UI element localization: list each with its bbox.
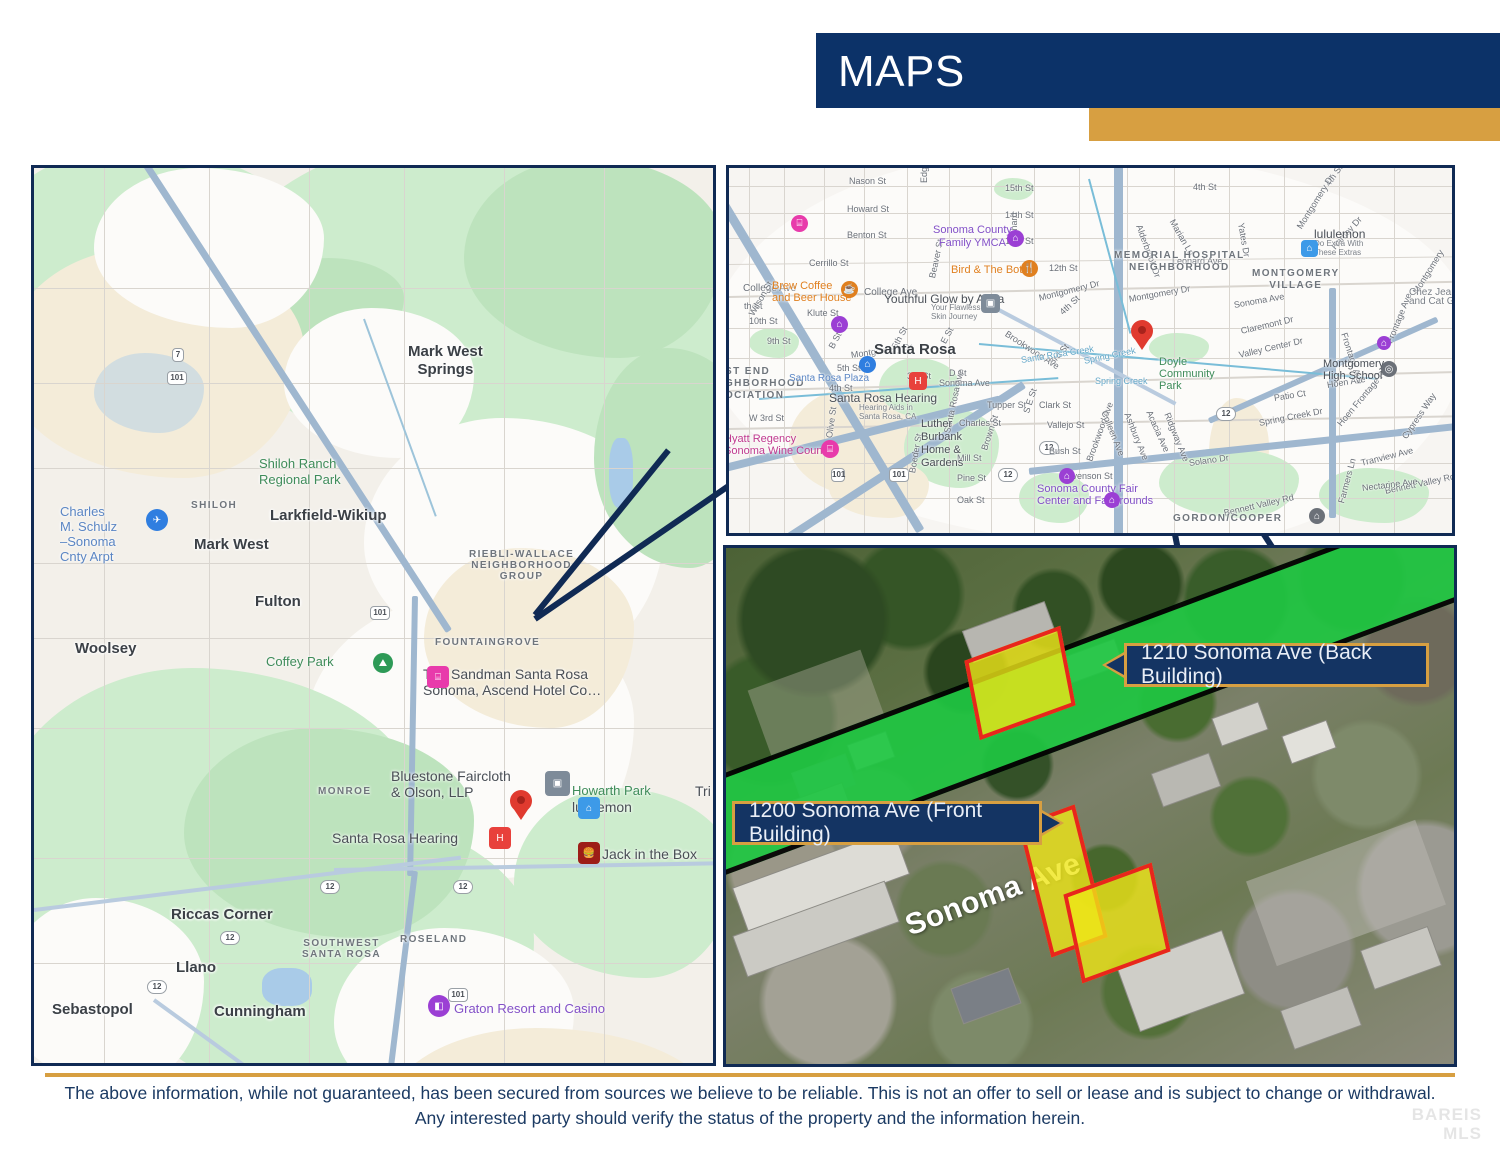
- map-label-city: Mark WestSprings: [408, 343, 483, 379]
- street-label: Vallejo St: [1047, 420, 1084, 430]
- street-label: Bush St: [1049, 446, 1081, 456]
- hospital-icon[interactable]: H: [489, 827, 511, 849]
- bareis-mls-watermark: BAREIS MLS: [1396, 1105, 1482, 1151]
- hotel-icon[interactable]: ⌸: [791, 215, 808, 232]
- map-label-park: Coffey Park: [266, 654, 334, 669]
- map-label-city: Woolsey: [75, 640, 136, 657]
- highway-shield: 7: [172, 348, 184, 362]
- poi-label-fairgrounds: Sonoma County FairCenter and Fairgrounds: [1037, 483, 1153, 507]
- poi-label-luther-burbank: LutherBurbankHome &Gardens: [921, 418, 963, 470]
- poi-label-lululemon-sub: Do Extra WithThese Extras: [1314, 239, 1363, 257]
- neighborhood-label: ST ENDGHBORHOODOCIATION: [726, 366, 805, 402]
- overview-map-panel[interactable]: 101 101 101 12 12 12 12 116 7 Mark WestS…: [31, 165, 716, 1066]
- footer-divider: [45, 1073, 1455, 1077]
- map-label-city: Cunningham: [214, 1003, 306, 1020]
- map-label-city: Fulton: [255, 593, 301, 610]
- street-label: Tupper St: [987, 400, 1026, 410]
- map-label-park: Howarth Park: [572, 783, 651, 798]
- street-label: Edgew: [919, 165, 929, 183]
- street-label: Cerrillo St: [809, 258, 849, 268]
- street-label: Howard St: [847, 204, 889, 214]
- road: [991, 168, 992, 533]
- road: [209, 168, 210, 1063]
- road: [104, 168, 105, 1063]
- overview-map-canvas[interactable]: 101 101 101 12 12 12 12 116 7 Mark WestS…: [34, 168, 713, 1063]
- map-label-city: Riccas Corner: [171, 906, 273, 923]
- street-label: 10th St: [749, 316, 778, 326]
- highway-shield-12: 12: [453, 880, 473, 894]
- road: [1229, 168, 1230, 533]
- road: [34, 728, 713, 729]
- street-label: 15th St: [1005, 183, 1034, 193]
- highway-shield-12: 12: [147, 980, 167, 994]
- water-body: [262, 968, 312, 1006]
- road: [34, 288, 713, 289]
- subject-property-pin[interactable]: [510, 790, 532, 820]
- school-icon[interactable]: ◎: [1381, 361, 1397, 377]
- street-label: 4th St: [1193, 182, 1217, 192]
- map-label-neighborhood: RIEBLI-WALLACENEIGHBORHOODGROUP: [469, 549, 574, 582]
- highway-shield-12: 12: [220, 931, 240, 945]
- shop-icon[interactable]: ⌂: [578, 797, 600, 819]
- map-label-business: Jack in the Box: [602, 846, 697, 862]
- poi-label-brew-coffee: Brew Coffeeand Beer House: [772, 280, 852, 304]
- creek-label: Spring Creek: [1095, 376, 1148, 386]
- restaurant-icon[interactable]: 🍔: [578, 842, 600, 864]
- highway-shield-101: 101: [889, 468, 909, 482]
- aerial-photo-panel[interactable]: Sonoma Ave 1210 Sonoma Ave (Back Buildin…: [723, 545, 1457, 1067]
- venue-icon[interactable]: ⌂: [1104, 492, 1120, 508]
- street-label: Pine St: [957, 473, 986, 483]
- poi-label-hyatt: Hyatt RegencySonoma Wine Country: [726, 433, 835, 457]
- disclaimer-line-2: Any interested party should verify the s…: [45, 1106, 1455, 1131]
- highway-shield-12: 12: [998, 468, 1018, 482]
- poi-label-ymca: Sonoma CountyFamily YMCA: [933, 224, 1012, 250]
- disclaimer-line-1: The above information, while not guarant…: [45, 1081, 1455, 1106]
- road: [34, 963, 713, 964]
- map-label-park: Tri: [695, 783, 711, 799]
- restaurant-icon[interactable]: 🍴: [1021, 260, 1038, 277]
- road: [824, 168, 825, 533]
- disclaimer-text: The above information, while not guarant…: [45, 1081, 1455, 1131]
- street-label: W 3rd St: [749, 413, 784, 423]
- highway-shield-12: 12: [320, 880, 340, 894]
- street-label: Sonoma Ave: [939, 378, 990, 388]
- poi-label-chez-jean: Chez Jeanand Cat Gro: [1409, 288, 1455, 306]
- park-icon[interactable]: ⌂: [1309, 508, 1325, 524]
- street-label: 5th St: [837, 363, 861, 373]
- street-label: Oak St: [957, 495, 985, 505]
- callout-1200-label: 1200 Sonoma Ave (Front Building): [749, 799, 1025, 847]
- map-label-city: Mark West: [194, 536, 269, 553]
- shop-icon[interactable]: ⌂: [1301, 240, 1318, 257]
- property-building-icon[interactable]: ▣: [981, 294, 1000, 313]
- property-building-icon[interactable]: ▣: [545, 771, 570, 796]
- map-label-business: Bluestone Faircloth& Olson, LLP: [391, 768, 511, 800]
- park-icon[interactable]: ⛰: [373, 653, 393, 673]
- poi-label-doyle-park: DoyleCommunityPark: [1159, 356, 1215, 392]
- street-label: Charles St: [959, 418, 1001, 428]
- hotel-icon[interactable]: ⌸: [427, 666, 449, 688]
- mall-icon[interactable]: ⌂: [859, 356, 876, 373]
- map-label-business: The Sandman Santa RosaSonoma, Ascend Hot…: [423, 666, 601, 698]
- map-label-airport: CharlesM. Schulz–SonomaCnty Arpt: [60, 504, 117, 564]
- road-farmers-ln: [1329, 288, 1336, 518]
- road: [34, 638, 713, 639]
- street-label: Clark St: [1039, 400, 1071, 410]
- highway-shield-101: 101: [167, 371, 187, 385]
- map-label-business: Santa Rosa Hearing: [332, 830, 458, 846]
- road: [1339, 168, 1340, 533]
- callout-1210-label: 1210 Sonoma Ave (Back Building): [1141, 641, 1412, 689]
- road: [1284, 168, 1285, 533]
- callout-1210-sonoma[interactable]: 1210 Sonoma Ave (Back Building): [1124, 643, 1429, 687]
- subject-property-pin[interactable]: [1131, 320, 1153, 350]
- neighborhood-label: MEMORIAL HOSPITALNEIGHBORHOOD: [1114, 250, 1245, 274]
- map-label-neighborhood: MONROE: [318, 786, 371, 797]
- hospital-icon[interactable]: H: [909, 372, 927, 390]
- shop-icon[interactable]: ⌂: [831, 316, 848, 333]
- callout-pointer-right-icon: [1042, 810, 1064, 836]
- road: [749, 168, 750, 533]
- map-label-park: Shiloh RanchRegional Park: [259, 456, 341, 488]
- poi-label-sr-plaza: Santa Rosa Plaza: [789, 373, 869, 384]
- header-accent-bar: [1089, 108, 1500, 141]
- map-label-casino: Graton Resort and Casino: [454, 1003, 605, 1015]
- cafe-icon[interactable]: ☕: [841, 281, 858, 298]
- road: [729, 213, 1452, 214]
- watermark-line-2: MLS: [1396, 1124, 1482, 1143]
- map-label-neighborhood: ROSELAND: [400, 934, 467, 945]
- poi-label-skin-journey: Your FlawlessSkin Journey: [931, 303, 981, 321]
- road: [604, 168, 605, 1063]
- page-title: MAPS: [838, 48, 965, 96]
- poi-label-montgomery-hs: MontgomeryHigh School: [1323, 358, 1384, 382]
- map-label-neighborhood: SOUTHWESTSANTA ROSA: [302, 938, 381, 960]
- street-label: Nason St: [849, 176, 886, 186]
- highway-shield-101: 101: [448, 988, 468, 1002]
- watermark-line-1: BAREIS: [1396, 1105, 1482, 1124]
- street-label: Benton St: [847, 230, 887, 240]
- neighborhood-label: GORDON/COOPER: [1173, 513, 1282, 524]
- map-label-city: Llano: [176, 959, 216, 976]
- hotel-icon[interactable]: ⌸: [821, 440, 839, 458]
- city-map-panel[interactable]: 101 12 12 12 101 Nason St Howard St Bent…: [726, 165, 1455, 536]
- road: [504, 168, 505, 1063]
- callout-pointer-left-icon: [1102, 652, 1124, 678]
- shop-icon[interactable]: ⌂: [1007, 230, 1024, 247]
- map-label-neighborhood: FOUNTAINGROVE: [435, 637, 540, 648]
- highway-shield: 101: [831, 468, 845, 482]
- map-label-city: Sebastopol: [52, 1001, 133, 1018]
- road: [309, 168, 310, 1063]
- poi-label-hearing-aids: Hearing Aids inSanta Rosa, CA: [859, 403, 916, 421]
- street-label: 9th St: [767, 336, 791, 346]
- callout-1200-sonoma[interactable]: 1200 Sonoma Ave (Front Building): [732, 801, 1042, 845]
- neighborhood-label: MONTGOMERYVILLAGE: [1252, 268, 1340, 292]
- highway-shield-12: 12: [1216, 407, 1236, 421]
- airport-icon[interactable]: ✈: [146, 509, 168, 531]
- venue-icon[interactable]: ⌂: [1059, 468, 1075, 484]
- city-label: Santa Rosa: [874, 341, 956, 358]
- street-label: 12th St: [1049, 263, 1078, 273]
- highway-shield-101: 101: [370, 606, 390, 620]
- road: [34, 468, 713, 469]
- casino-icon[interactable]: ◧: [428, 995, 450, 1017]
- road: [784, 168, 785, 533]
- city-map-canvas[interactable]: 101 12 12 12 101 Nason St Howard St Bent…: [729, 168, 1452, 533]
- map-label-city: Larkfield-Wikiup: [270, 507, 387, 524]
- road: [34, 383, 713, 384]
- map-label-neighborhood: SHILOH: [191, 500, 237, 511]
- poi-icon[interactable]: ⌂: [1377, 336, 1391, 350]
